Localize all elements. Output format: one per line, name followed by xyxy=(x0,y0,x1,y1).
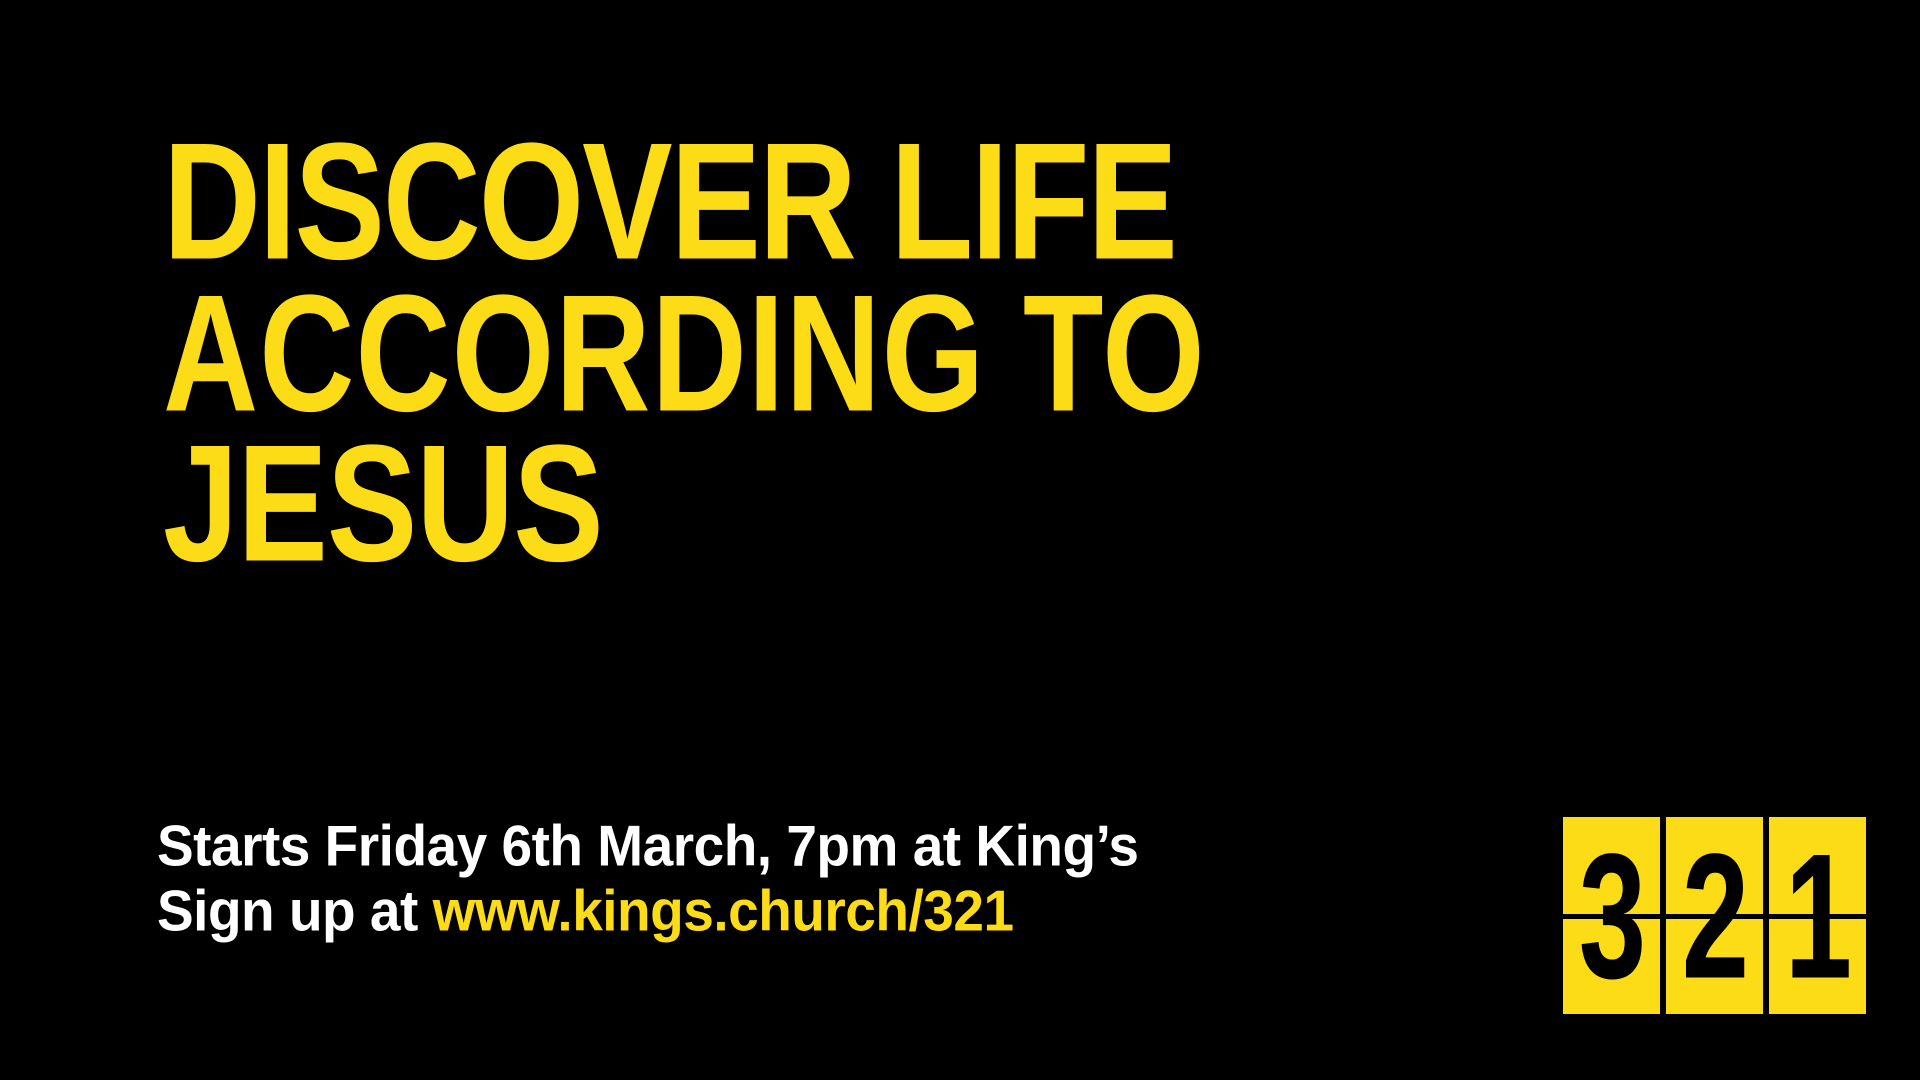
event-datetime-line: Starts Friday 6th March, 7pm at King’s xyxy=(157,812,1457,880)
logo-digit-3: 3 xyxy=(1579,826,1645,1004)
headline-block: DISCOVER LIFE ACCORDING TO JESUS xyxy=(163,122,1483,576)
logo-tile-2: 2 xyxy=(1666,817,1763,1014)
event-details-block: Starts Friday 6th March, 7pm at King’s S… xyxy=(157,812,1457,942)
logo-digit-2: 2 xyxy=(1682,826,1748,1004)
headline-line-3: JESUS xyxy=(163,424,1562,585)
poster-canvas: DISCOVER LIFE ACCORDING TO JESUS Starts … xyxy=(0,0,1920,1080)
headline-row-2: ACCORDING TO xyxy=(163,274,1483,424)
logo-tile-3: 3 xyxy=(1563,817,1660,1014)
signup-prefix-text: Sign up at xyxy=(157,878,433,943)
headline-row-3: JESUS xyxy=(163,424,1483,576)
headline-line-1: DISCOVER LIFE xyxy=(163,122,1562,283)
logo-321[interactable]: 3 2 1 xyxy=(1563,817,1866,1014)
signup-line: Sign up at www.kings.church/321 xyxy=(157,877,1457,945)
logo-digit-1: 1 xyxy=(1785,826,1851,1004)
headline-row-1: DISCOVER LIFE xyxy=(163,122,1483,274)
signup-url-link[interactable]: www.kings.church/321 xyxy=(433,878,1014,943)
event-datetime-text: Starts Friday 6th March, 7pm at King’s xyxy=(157,813,1138,878)
logo-tile-1: 1 xyxy=(1769,817,1866,1014)
